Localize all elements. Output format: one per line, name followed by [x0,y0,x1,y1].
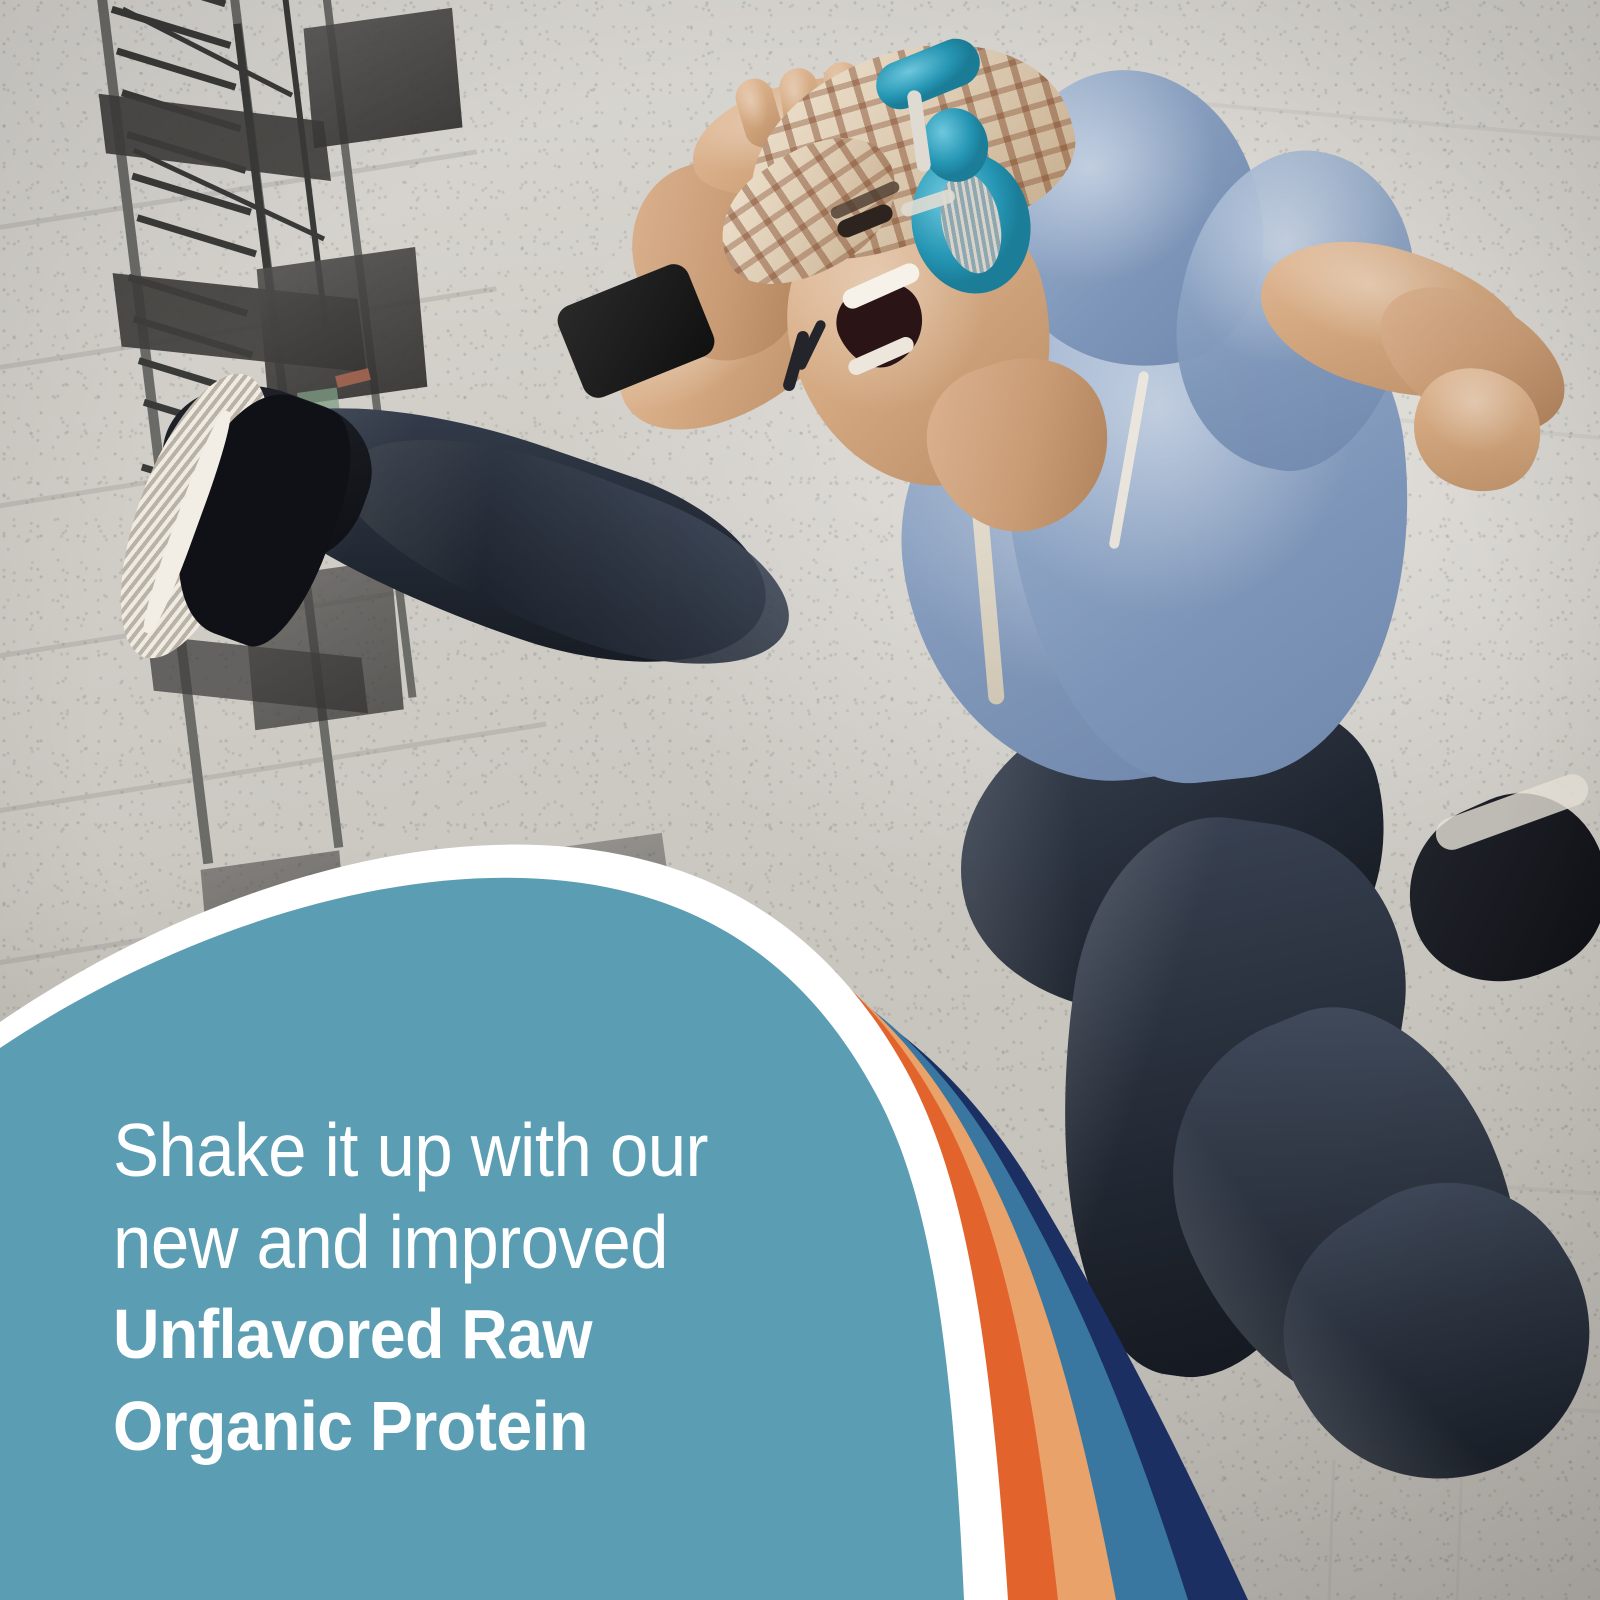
promo-poster: Shake it up with our new and improved Un… [0,0,1600,1600]
headline-block: Shake it up with our new and improved Un… [113,1104,873,1472]
headline-line-4: Organic Protein [113,1380,812,1472]
headline-line-2: new and improved [113,1196,812,1288]
headline-line-3: Unflavored Raw [113,1288,812,1380]
headline-line-1: Shake it up with our [113,1104,812,1196]
